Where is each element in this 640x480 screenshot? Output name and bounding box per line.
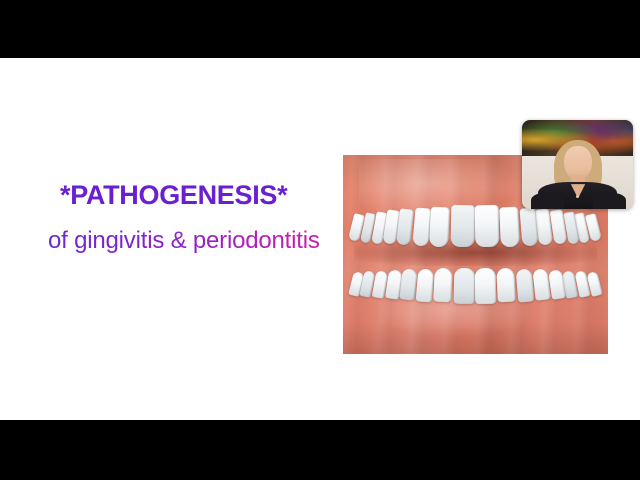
tooth [429,206,450,247]
letterbox-top [0,0,640,58]
tooth [396,209,414,246]
tooth [499,206,520,247]
tooth [475,205,499,247]
tooth [434,268,454,303]
tooth [412,207,431,246]
presenter-webcam[interactable] [522,120,633,209]
tooth [416,268,435,302]
tooth [454,267,475,303]
letterbox-bottom [0,420,640,480]
presentation-slide: *PATHOGENESIS* of gingivitis & periodont… [0,58,640,420]
presenter-shoulder-left [531,193,564,209]
slide-title: *PATHOGENESIS* [60,180,287,211]
tooth [532,269,551,301]
tooth [475,267,496,303]
tooth [515,268,534,302]
lower-dental-arch [351,245,600,305]
tooth [450,205,474,247]
video-player: *PATHOGENESIS* of gingivitis & periodont… [0,0,640,480]
presenter-shoulder-right [593,193,626,209]
slide-subtitle: of gingivitis & periodontitis [48,227,320,255]
tooth [496,268,516,303]
tooth [519,207,538,246]
